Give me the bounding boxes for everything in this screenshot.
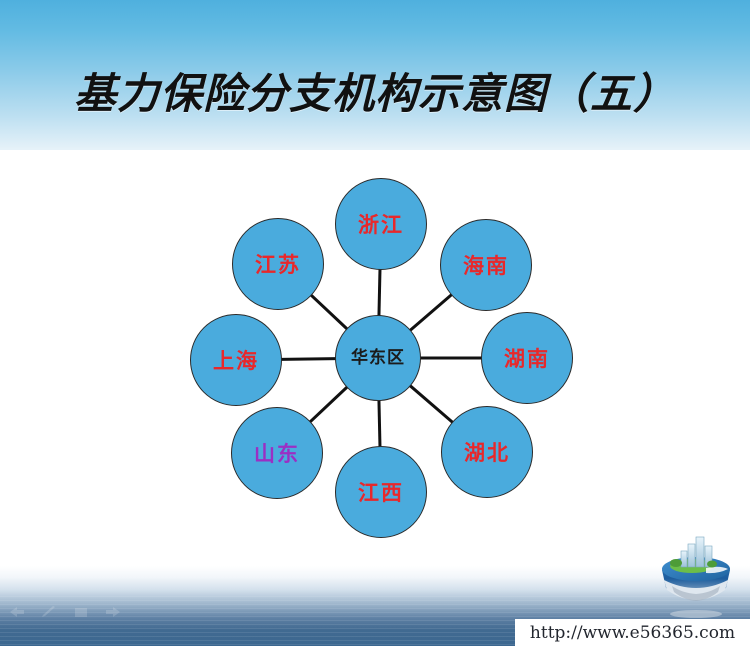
connector-line-浙江 — [379, 269, 380, 316]
diagram-node-山东[interactable]: 山东 — [231, 407, 323, 499]
node-label: 上海 — [213, 350, 259, 371]
slide-canvas: 基力保险分支机构示意图（五） 浙江海南湖南湖北江西山东上海江苏华东区 — [0, 0, 750, 646]
connector-line-上海 — [281, 359, 336, 360]
arrow-right-icon[interactable] — [104, 605, 122, 619]
node-label: 浙江 — [358, 214, 404, 235]
node-label: 湖南 — [504, 348, 550, 369]
arrow-left-icon[interactable] — [8, 605, 26, 619]
node-label: 海南 — [463, 255, 509, 276]
connector-line-湖北 — [410, 385, 453, 422]
pen-icon[interactable] — [40, 605, 58, 619]
square-icon[interactable] — [72, 605, 90, 619]
diagram-node-江西[interactable]: 江西 — [335, 446, 427, 538]
node-label: 湖北 — [464, 442, 510, 463]
node-label: 江苏 — [255, 254, 301, 275]
globe-city-logo — [648, 524, 744, 620]
diagram-node-海南[interactable]: 海南 — [440, 219, 532, 311]
diagram-node-浙江[interactable]: 浙江 — [335, 178, 427, 270]
connector-line-江西 — [379, 400, 380, 447]
org-structure-diagram: 浙江海南湖南湖北江西山东上海江苏华东区 — [0, 0, 750, 646]
connector-line-山东 — [310, 387, 348, 422]
diagram-node-华东区[interactable]: 华东区 — [335, 315, 421, 401]
connector-line-海南 — [410, 294, 452, 330]
watermark-url: http://www.e56365.com — [515, 620, 750, 646]
diagram-node-湖北[interactable]: 湖北 — [441, 406, 533, 498]
node-label: 江西 — [358, 482, 404, 503]
node-label: 华东区 — [351, 350, 405, 367]
diagram-node-湖南[interactable]: 湖南 — [481, 312, 573, 404]
connector-line-江苏 — [311, 295, 348, 329]
node-label: 山东 — [254, 443, 300, 464]
diagram-node-江苏[interactable]: 江苏 — [232, 218, 324, 310]
diagram-node-上海[interactable]: 上海 — [190, 314, 282, 406]
faint-nav-icons — [8, 600, 128, 624]
